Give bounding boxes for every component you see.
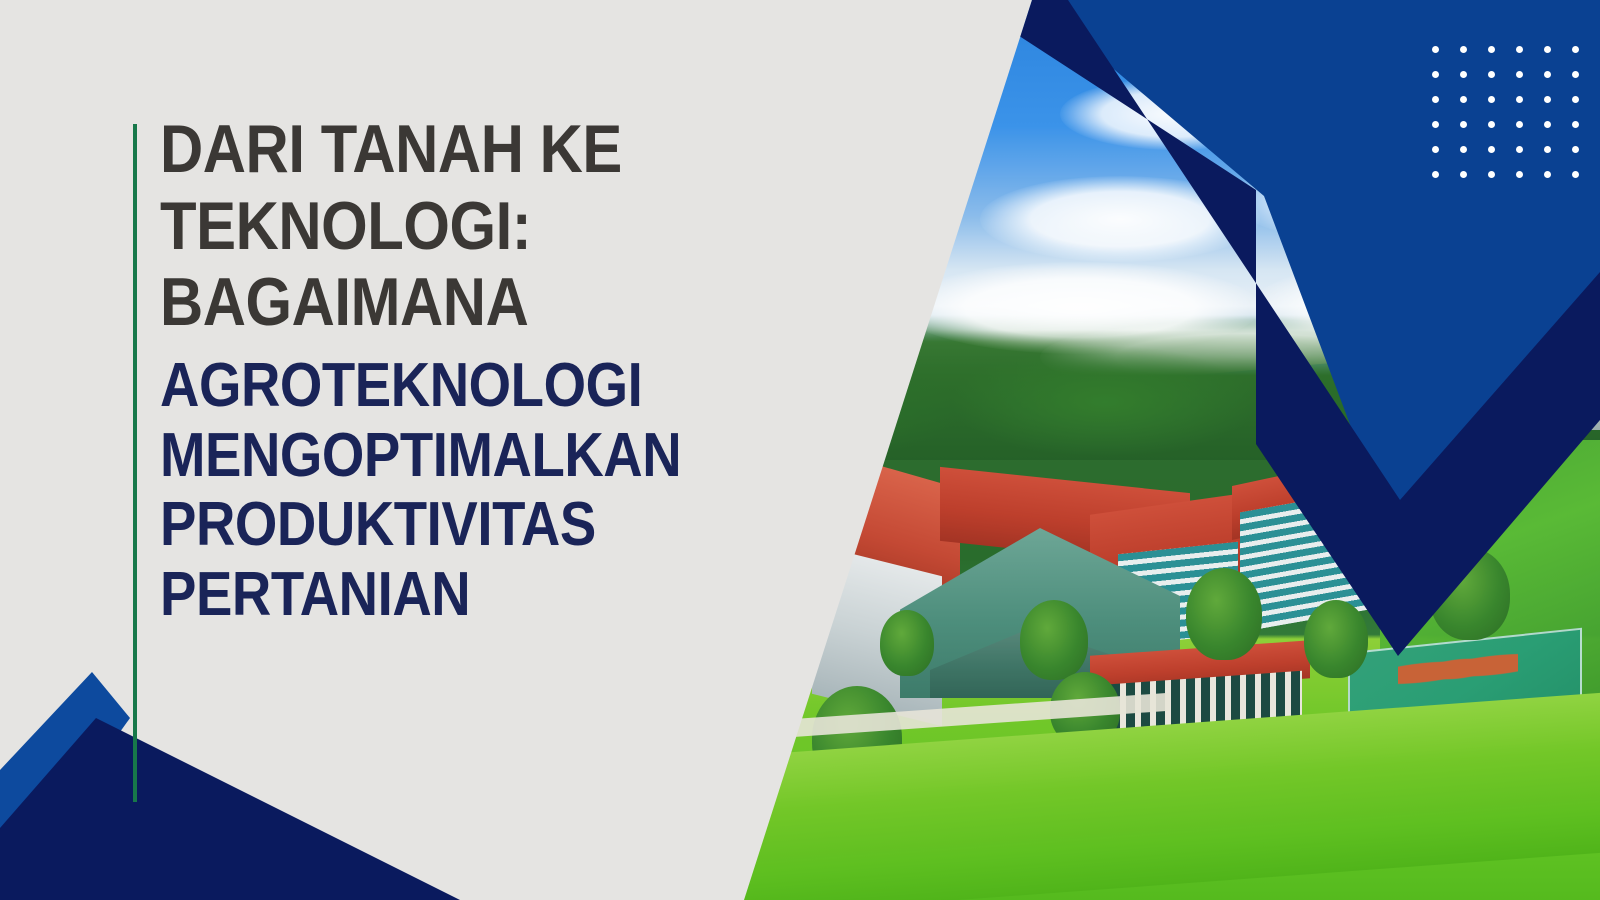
grid-dot: [1488, 171, 1495, 178]
grid-dot: [1432, 146, 1439, 153]
grid-dot: [1460, 46, 1467, 53]
grid-dot: [1432, 171, 1439, 178]
tree-cluster: [1186, 568, 1262, 660]
grid-dot: [1572, 146, 1579, 153]
grid-dot: [1432, 121, 1439, 128]
grid-dot: [1488, 46, 1495, 53]
grid-dot: [1460, 96, 1467, 103]
headline-line-2: TEKNOLOGI:: [160, 193, 706, 260]
grid-dot: [1460, 71, 1467, 78]
grid-dot: [1488, 146, 1495, 153]
grid-dot: [1544, 146, 1551, 153]
grid-dot: [1572, 121, 1579, 128]
grid-dot: [1516, 46, 1523, 53]
headline-line-1: DARI TANAH KE: [160, 116, 706, 183]
subheadline-block: AGROTEKNOLOGI MENGOPTIMALKAN PRODUKTIVIT…: [160, 356, 780, 626]
headline-line-3: BAGAIMANA: [160, 269, 706, 336]
grid-dot: [1488, 71, 1495, 78]
tree-cluster: [1304, 600, 1368, 678]
grid-dot: [1516, 96, 1523, 103]
subheadline-line-4: PERTANIAN: [160, 565, 706, 626]
grid-dot: [1460, 146, 1467, 153]
poster-canvas: DARI TANAH KE TEKNOLOGI: BAGAIMANA AGROT…: [0, 0, 1600, 900]
subheadline-line-3: PRODUKTIVITAS: [160, 495, 706, 556]
grid-dot: [1432, 96, 1439, 103]
green-accent-rule: [133, 124, 137, 802]
grid-dot: [1488, 96, 1495, 103]
tree-cluster: [880, 610, 934, 676]
grid-dot: [1460, 171, 1467, 178]
grid-dot: [1516, 171, 1523, 178]
grid-dot: [1544, 96, 1551, 103]
grid-dot: [1544, 121, 1551, 128]
grid-dot: [1488, 121, 1495, 128]
grid-dot: [1572, 171, 1579, 178]
grid-dot: [1544, 46, 1551, 53]
tree-cluster: [1020, 600, 1088, 680]
subheadline-line-2: MENGOPTIMALKAN: [160, 426, 706, 487]
grid-dot: [1516, 71, 1523, 78]
grid-dot: [1572, 96, 1579, 103]
grid-dot: [1432, 46, 1439, 53]
headline-block: DARI TANAH KE TEKNOLOGI: BAGAIMANA AGROT…: [160, 116, 780, 635]
grid-dot: [1516, 146, 1523, 153]
grid-dot: [1544, 71, 1551, 78]
grid-dot: [1432, 71, 1439, 78]
dot-grid-pattern: [1432, 46, 1600, 196]
grid-dot: [1460, 121, 1467, 128]
grid-dot: [1516, 121, 1523, 128]
grid-dot: [1572, 46, 1579, 53]
grid-dot: [1572, 71, 1579, 78]
grid-dot: [1544, 171, 1551, 178]
subheadline-line-1: AGROTEKNOLOGI: [160, 356, 706, 417]
